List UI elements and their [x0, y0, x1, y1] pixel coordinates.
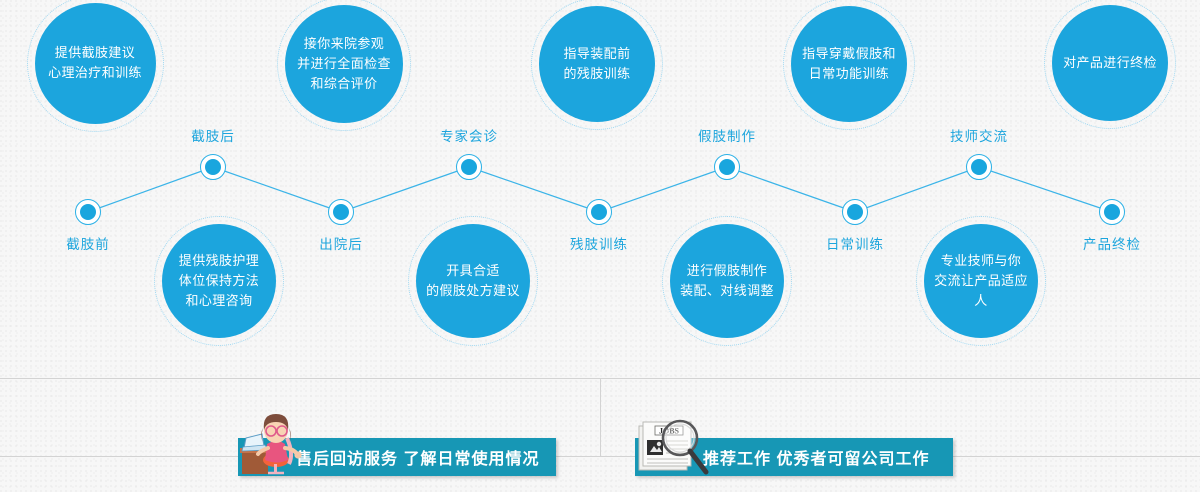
banner-job-referral[interactable]: 推荐工作 优秀者可留公司工作 — [635, 438, 953, 476]
info-bubble-8[interactable]: 专业技师与你 交流让产品适应人 — [916, 216, 1046, 346]
info-bubble-1[interactable]: 提供截肢建议 心理治疗和训练 — [27, 0, 164, 132]
divider-bottom — [0, 456, 1200, 457]
info-bubble-text-9: 对产品进行终检 — [1052, 5, 1168, 121]
flow-node-8[interactable] — [966, 154, 992, 180]
info-bubble-3[interactable]: 接你来院参观 并进行全面检查 和综合评价 — [277, 0, 411, 131]
info-bubble-text-4: 开具合适 的假肢处方建议 — [416, 224, 530, 338]
info-bubble-text-6: 进行假肢制作 装配、对线调整 — [670, 224, 784, 338]
flow-node-2[interactable] — [200, 154, 226, 180]
info-bubble-4[interactable]: 开具合适 的假肢处方建议 — [408, 216, 538, 346]
flow-node-6[interactable] — [714, 154, 740, 180]
info-bubble-text-7: 指导穿戴假肢和 日常功能训练 — [791, 6, 907, 122]
flow-node-5[interactable] — [586, 199, 612, 225]
process-flow-diagram: 提供截肢建议 心理治疗和训练提供残肢护理 体位保持方法 和心理咨询接你来院参观 … — [0, 0, 1200, 378]
info-bubble-2[interactable]: 提供残肢护理 体位保持方法 和心理咨询 — [154, 216, 284, 346]
info-bubble-text-8: 专业技师与你 交流让产品适应人 — [924, 224, 1038, 338]
flow-node-label-2: 截肢后 — [191, 125, 235, 145]
banner-after-sales-label: 售后回访服务 了解日常使用情况 — [296, 445, 539, 469]
info-bubble-7[interactable]: 指导穿戴假肢和 日常功能训练 — [783, 0, 915, 130]
flow-node-label-1: 截肢前 — [66, 233, 110, 253]
flow-node-label-9: 产品终检 — [1083, 233, 1141, 253]
flow-node-1[interactable] — [75, 199, 101, 225]
info-bubble-9[interactable]: 对产品进行终检 — [1044, 0, 1176, 129]
flow-node-label-3: 出院后 — [319, 233, 363, 253]
info-bubble-5[interactable]: 指导装配前 的残肢训练 — [531, 0, 663, 130]
flow-node-9[interactable] — [1099, 199, 1125, 225]
flow-node-label-5: 残肢训练 — [570, 233, 628, 253]
divider-vertical — [600, 378, 601, 456]
flow-node-label-7: 日常训练 — [826, 233, 884, 253]
flow-node-4[interactable] — [456, 154, 482, 180]
info-bubble-text-1: 提供截肢建议 心理治疗和训练 — [35, 3, 156, 124]
flow-node-7[interactable] — [842, 199, 868, 225]
flow-node-label-8: 技师交流 — [950, 125, 1008, 145]
info-bubble-text-3: 接你来院参观 并进行全面检查 和综合评价 — [285, 5, 403, 123]
info-bubble-text-2: 提供残肢护理 体位保持方法 和心理咨询 — [162, 224, 276, 338]
flow-node-label-4: 专家会诊 — [440, 125, 498, 145]
info-bubble-text-5: 指导装配前 的残肢训练 — [539, 6, 655, 122]
jobs-caption: JOBS — [659, 427, 680, 436]
banner-job-referral-label: 推荐工作 优秀者可留公司工作 — [703, 445, 929, 469]
info-bubble-6[interactable]: 进行假肢制作 装配、对线调整 — [662, 216, 792, 346]
flow-node-label-6: 假肢制作 — [698, 125, 756, 145]
banner-after-sales[interactable]: 售后回访服务 了解日常使用情况 — [238, 438, 556, 476]
flow-node-3[interactable] — [328, 199, 354, 225]
